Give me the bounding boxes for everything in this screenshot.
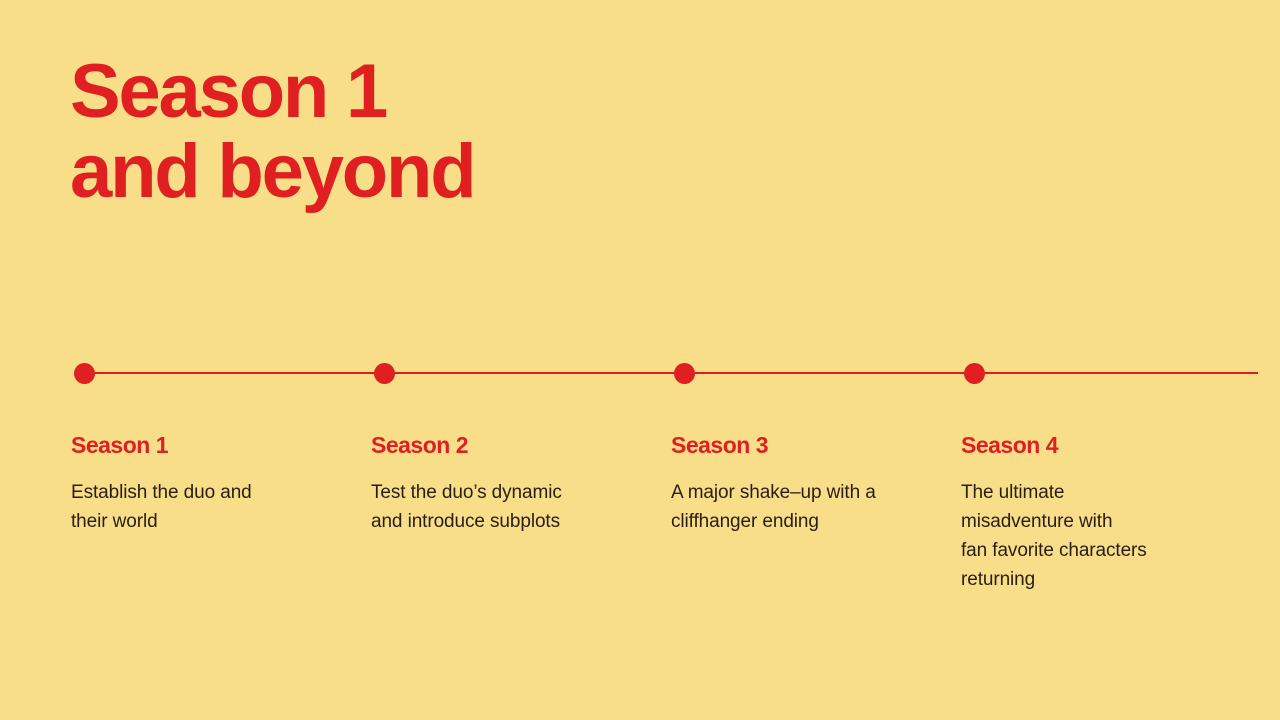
timeline-dot-season-3[interactable] — [674, 363, 695, 384]
page-title: Season 1 and beyond — [70, 52, 770, 212]
column-body-season-1: Establish the duo and their world — [71, 478, 321, 536]
timeline-dot-season-1[interactable] — [74, 363, 95, 384]
timeline-column-season-2: Season 2 Test the duo’s dynamic and intr… — [371, 432, 621, 536]
timeline-dot-season-2[interactable] — [374, 363, 395, 384]
column-heading-season-1: Season 1 — [71, 432, 321, 458]
timeline-axis-line — [84, 372, 1258, 374]
column-heading-season-2: Season 2 — [371, 432, 621, 458]
timeline-dot-season-4[interactable] — [964, 363, 985, 384]
timeline — [0, 340, 1280, 406]
slide-canvas: Season 1 and beyond Season 1 Establish t… — [0, 0, 1280, 720]
column-heading-season-3: Season 3 — [671, 432, 921, 458]
timeline-columns: Season 1 Establish the duo and their wor… — [0, 432, 1280, 662]
column-body-season-2: Test the duo’s dynamic and introduce sub… — [371, 478, 621, 536]
timeline-column-season-4: Season 4 The ultimate misadventure with … — [961, 432, 1211, 594]
column-body-season-4: The ultimate misadventure with fan favor… — [961, 478, 1211, 594]
column-body-season-3: A major shake–up with a cliffhanger endi… — [671, 478, 921, 536]
timeline-column-season-1: Season 1 Establish the duo and their wor… — [71, 432, 321, 536]
column-heading-season-4: Season 4 — [961, 432, 1211, 458]
timeline-column-season-3: Season 3 A major shake–up with a cliffha… — [671, 432, 921, 536]
